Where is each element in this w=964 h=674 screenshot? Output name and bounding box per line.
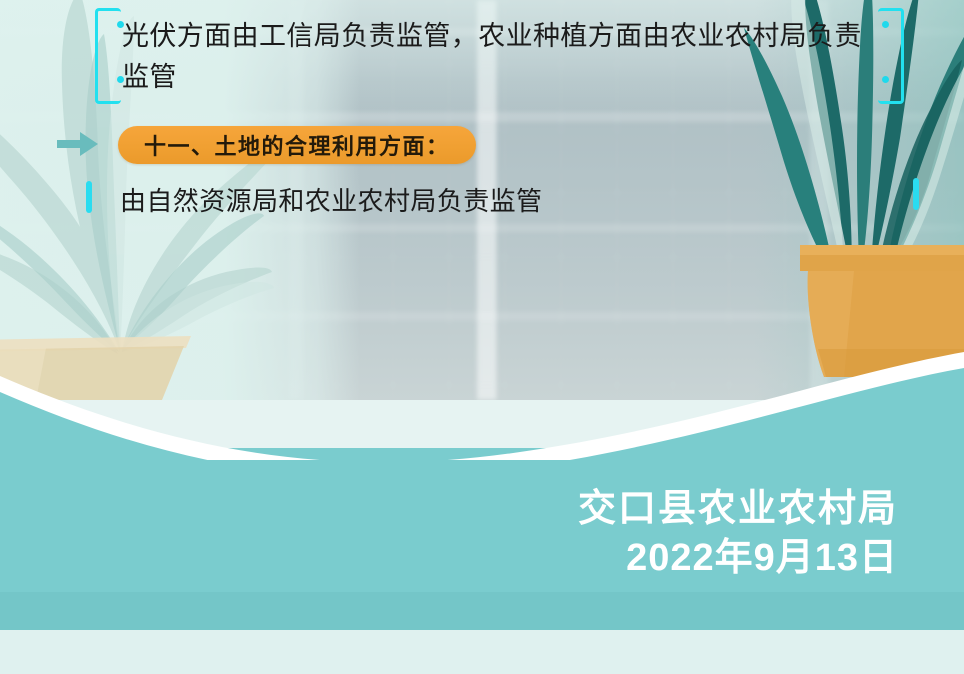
footer-region: 交口县农业农村局 2022年9月13日 bbox=[0, 330, 964, 674]
footer-teal-band-shade bbox=[0, 592, 964, 630]
presentation-slide: 光伏方面由工信局负责监管，农业种植方面由农业农村局负责监管 十一、土地的合理利用… bbox=[0, 0, 964, 674]
arrow-right-icon bbox=[57, 131, 99, 157]
body-text: 由自然资源局和农业农村局负责监管 bbox=[120, 185, 860, 219]
section-title-pill: 十一、土地的合理利用方面： bbox=[118, 126, 476, 164]
headline-text: 光伏方面由工信局负责监管，农业种植方面由农业农村局负责监管 bbox=[122, 16, 882, 98]
wave-divider-icon bbox=[0, 330, 964, 460]
accent-dot-bottom-right bbox=[882, 76, 889, 83]
organization-name: 交口县农业农村局 bbox=[578, 488, 898, 531]
accent-dot-top-right bbox=[882, 21, 889, 28]
accent-tick-left bbox=[86, 181, 92, 213]
footer-bottom-strip bbox=[0, 630, 964, 674]
publish-date: 2022年9月13日 bbox=[626, 537, 898, 580]
accent-tick-right bbox=[913, 178, 919, 210]
